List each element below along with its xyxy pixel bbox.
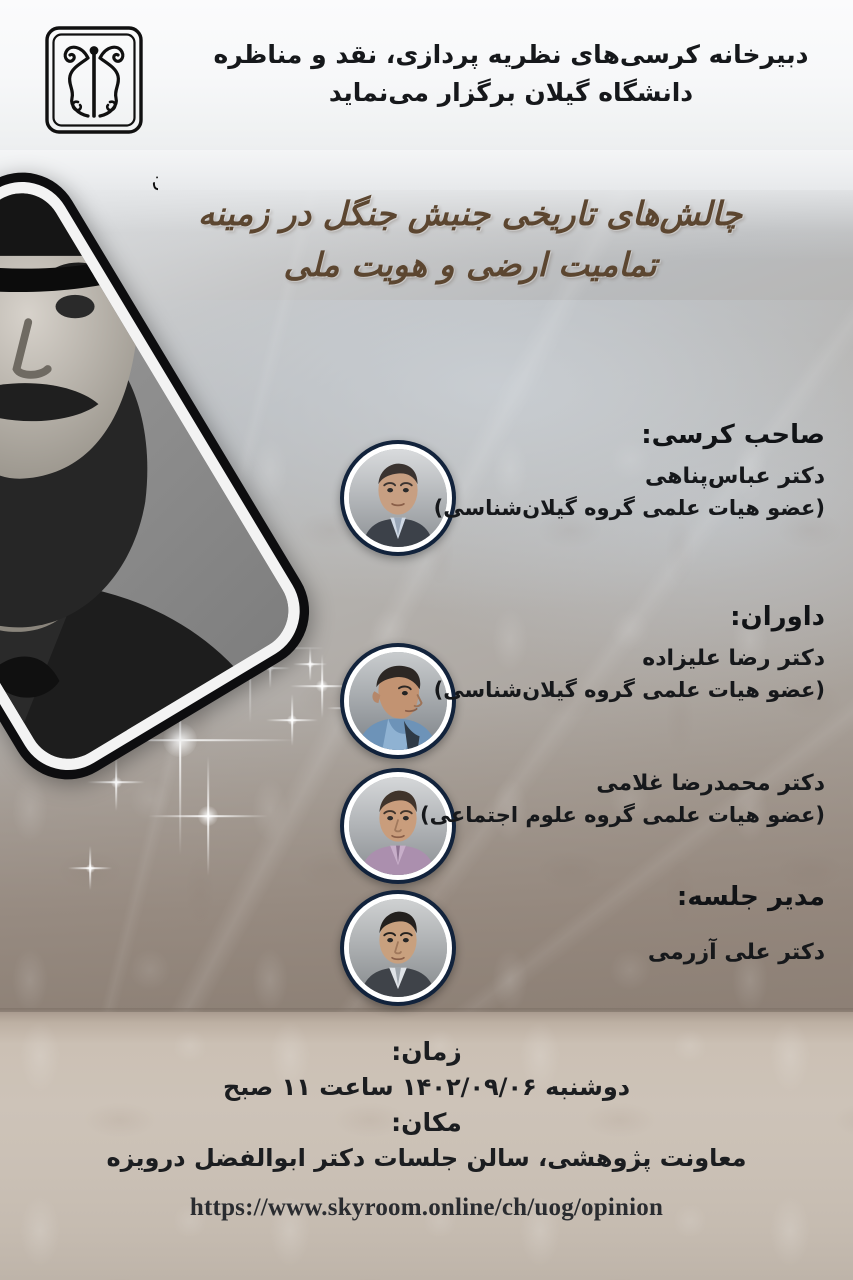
page-title: چالش‌های تاریخی جنبش جنگل در زمینه تمامی… — [125, 188, 815, 290]
judge-2-affiliation: (عضو هیات علمی گروه علوم اجتماعی) — [385, 800, 825, 830]
judge-2-block: دکتر محمدرضا غلامی (عضو هیات علمی گروه ع… — [385, 768, 825, 830]
chair-name: دکتر عباس‌پناهی — [385, 461, 825, 493]
title-line-2: تمامیت ارضی و هویت ملی — [125, 239, 815, 290]
time-label: زمان: — [0, 1034, 853, 1069]
session-manager-heading: مدیر جلسه: — [385, 880, 825, 915]
chair-block: صاحب کرسی: دکتر عباس‌پناهی (عضو هیات علم… — [385, 418, 825, 523]
place-value: معاونت پژوهشی، سالن جلسات دکتر ابوالفضل … — [0, 1140, 853, 1176]
judges-heading: داوران: — [385, 600, 825, 635]
university-logo: دانشگاه گیلان — [26, 24, 154, 192]
title-line-1: چالش‌های تاریخی جنبش جنگل در زمینه — [125, 188, 815, 239]
chair-heading: صاحب کرسی: — [385, 418, 825, 453]
judge-2-name: دکتر محمدرضا غلامی — [385, 768, 825, 800]
footer-details: زمان: دوشنبه ۱۴۰۲/۰۹/۰۶ ساعت ۱۱ صبح مکان… — [0, 1034, 853, 1222]
header-line-2: دانشگاه گیلان برگزار می‌نماید — [205, 74, 817, 112]
event-poster: دانشگاه گیلان دبیرخانه کرسی‌های نظریه پر… — [0, 0, 853, 1280]
logo-caption-text: دانشگاه گیلان — [148, 144, 158, 193]
chair-affiliation: (عضو هیات علمی گروه گیلان‌شناسی) — [385, 493, 825, 523]
header-line-1: دبیرخانه کرسی‌های نظریه پردازی، نقد و من… — [205, 36, 817, 74]
header-announcement: دبیرخانه کرسی‌های نظریه پردازی، نقد و من… — [205, 36, 817, 112]
judge-1-affiliation: (عضو هیات علمی گروه گیلان‌شناسی) — [385, 675, 825, 705]
judges-block: داوران: دکتر رضا علیزاده (عضو هیات علمی … — [385, 600, 825, 705]
session-manager-block: مدیر جلسه: دکتر علی آزرمی — [385, 880, 825, 969]
place-label: مکان: — [0, 1105, 853, 1140]
university-of-gilan-logo-icon — [42, 24, 146, 142]
time-value: دوشنبه ۱۴۰۲/۰۹/۰۶ ساعت ۱۱ صبح — [0, 1069, 853, 1105]
session-manager-name: دکتر علی آزرمی — [385, 937, 825, 969]
judge-1-name: دکتر رضا علیزاده — [385, 643, 825, 675]
meeting-url[interactable]: https://www.skyroom.online/ch/uog/opinio… — [0, 1194, 853, 1222]
